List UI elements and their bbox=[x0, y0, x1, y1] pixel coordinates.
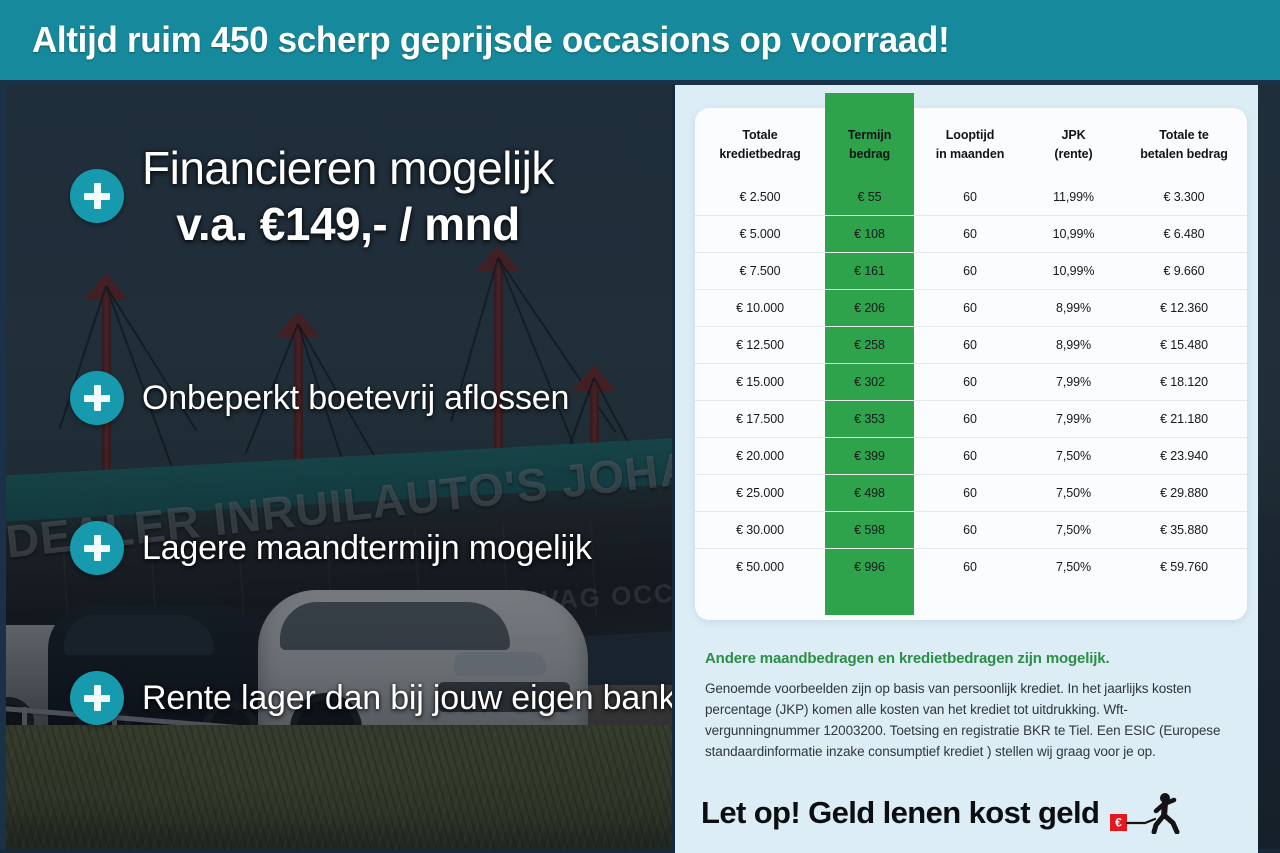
cell-jpk: 11,99% bbox=[1026, 179, 1121, 216]
table-row: € 10.000€ 206608,99%€ 12.360 bbox=[695, 289, 1247, 326]
cell-looptijd: 60 bbox=[914, 548, 1026, 585]
benefit-label-line2: v.a. €149,- / mnd bbox=[142, 201, 554, 247]
cell-totaalbedrag-text: € 21.180 bbox=[1160, 412, 1208, 426]
table-header-row: Totale kredietbedrag Termijn bedrag Loop… bbox=[695, 108, 1247, 179]
cell-termijnbedrag: € 598 bbox=[825, 511, 914, 548]
cell-kredietbedrag-text: € 50.000 bbox=[736, 560, 784, 574]
cell-termijnbedrag-text: € 161 bbox=[854, 264, 885, 278]
cell-totaalbedrag: € 9.660 bbox=[1121, 252, 1247, 289]
cell-jpk: 10,99% bbox=[1026, 252, 1121, 289]
cell-kredietbedrag: € 25.000 bbox=[695, 474, 825, 511]
cell-looptijd-text: 60 bbox=[963, 227, 977, 241]
table-row: € 30.000€ 598607,50%€ 35.880 bbox=[695, 511, 1247, 548]
cell-kredietbedrag: € 5.000 bbox=[695, 215, 825, 252]
cell-totaalbedrag: € 29.880 bbox=[1121, 474, 1247, 511]
table-row: € 5.000€ 1086010,99%€ 6.480 bbox=[695, 215, 1247, 252]
benefit-item-maandtermijn: Lagere maandtermijn mogelijk bbox=[70, 521, 592, 575]
plus-icon bbox=[70, 521, 124, 575]
cell-termijnbedrag-text: € 996 bbox=[854, 560, 885, 574]
cell-jpk: 7,50% bbox=[1026, 474, 1121, 511]
cell-looptijd-text: 60 bbox=[963, 264, 977, 278]
cell-looptijd: 60 bbox=[914, 326, 1026, 363]
disclaimer-body: Genoemde voorbeelden zijn op basis van p… bbox=[705, 679, 1225, 763]
cell-kredietbedrag-text: € 2.500 bbox=[739, 190, 780, 204]
cell-kredietbedrag: € 2.500 bbox=[695, 179, 825, 216]
cell-looptijd: 60 bbox=[914, 474, 1026, 511]
cell-kredietbedrag-text: € 25.000 bbox=[736, 486, 784, 500]
cell-kredietbedrag: € 30.000 bbox=[695, 511, 825, 548]
benefit-label: Rente lager dan bij jouw eigen bank bbox=[142, 679, 676, 718]
cell-jpk-text: 7,99% bbox=[1056, 375, 1091, 389]
benefit-item-financieren: Financieren mogelijk v.a. €149,- / mnd bbox=[70, 145, 554, 247]
cell-termijnbedrag-text: € 399 bbox=[854, 449, 885, 463]
cell-termijnbedrag: € 55 bbox=[825, 179, 914, 216]
cell-looptijd-text: 60 bbox=[963, 560, 977, 574]
cell-termijnbedrag-text: € 498 bbox=[854, 486, 885, 500]
table-row: € 2.500€ 556011,99%€ 3.300 bbox=[695, 179, 1247, 216]
cell-jpk: 8,99% bbox=[1026, 326, 1121, 363]
plus-icon bbox=[70, 169, 124, 223]
cell-looptijd: 60 bbox=[914, 179, 1026, 216]
cell-jpk-text: 10,99% bbox=[1053, 227, 1095, 241]
cell-kredietbedrag-text: € 7.500 bbox=[739, 264, 780, 278]
cell-termijnbedrag-text: € 108 bbox=[854, 227, 885, 241]
header-line2: (rente) bbox=[1028, 145, 1119, 164]
cell-looptijd: 60 bbox=[914, 252, 1026, 289]
cell-jpk: 7,50% bbox=[1026, 437, 1121, 474]
column-header-kredietbedrag: Totale kredietbedrag bbox=[695, 108, 825, 179]
cell-termijnbedrag-text: € 258 bbox=[854, 338, 885, 352]
cell-termijnbedrag: € 996 bbox=[825, 548, 914, 585]
table-row: € 25.000€ 498607,50%€ 29.880 bbox=[695, 474, 1247, 511]
cell-looptijd-text: 60 bbox=[963, 412, 977, 426]
cell-kredietbedrag: € 10.000 bbox=[695, 289, 825, 326]
cell-kredietbedrag: € 17.500 bbox=[695, 400, 825, 437]
column-header-jpk: JPK (rente) bbox=[1026, 108, 1121, 179]
header-line2: in maanden bbox=[916, 145, 1024, 164]
cell-totaalbedrag: € 12.360 bbox=[1121, 289, 1247, 326]
cell-jpk-text: 11,99% bbox=[1053, 190, 1094, 204]
cell-totaalbedrag-text: € 6.480 bbox=[1163, 227, 1204, 241]
advertisement-banner: Altijd ruim 450 scherp geprijsde occasio… bbox=[0, 0, 1280, 853]
header-line1: JPK bbox=[1028, 126, 1119, 145]
cell-jpk: 8,99% bbox=[1026, 289, 1121, 326]
header-line1: Termijn bbox=[827, 126, 912, 145]
cell-totaalbedrag: € 18.120 bbox=[1121, 363, 1247, 400]
header-line2: bedrag bbox=[827, 145, 912, 164]
cell-looptijd-text: 60 bbox=[963, 449, 977, 463]
financing-rates-table: Totale kredietbedrag Termijn bedrag Loop… bbox=[695, 108, 1247, 585]
credit-warning: Let op! Geld lenen kost geld € bbox=[701, 792, 1183, 834]
cell-looptijd: 60 bbox=[914, 400, 1026, 437]
cell-jpk-text: 8,99% bbox=[1056, 338, 1091, 352]
plus-icon bbox=[70, 371, 124, 425]
cell-looptijd: 60 bbox=[914, 289, 1026, 326]
cell-looptijd: 60 bbox=[914, 511, 1026, 548]
table-header: Totale kredietbedrag Termijn bedrag Loop… bbox=[695, 108, 1247, 179]
cell-jpk: 10,99% bbox=[1026, 215, 1121, 252]
column-header-looptijd: Looptijd in maanden bbox=[914, 108, 1026, 179]
cell-termijnbedrag: € 206 bbox=[825, 289, 914, 326]
cell-kredietbedrag: € 20.000 bbox=[695, 437, 825, 474]
header-line1: Looptijd bbox=[916, 126, 1024, 145]
cell-totaalbedrag-text: € 18.120 bbox=[1160, 375, 1208, 389]
header-line2: betalen bedrag bbox=[1123, 145, 1245, 164]
table-row: € 12.500€ 258608,99%€ 15.480 bbox=[695, 326, 1247, 363]
cell-jpk-text: 8,99% bbox=[1056, 301, 1091, 315]
disclaimer-title: Andere maandbedragen en kredietbedragen … bbox=[705, 650, 1225, 667]
header-line1: Totale te bbox=[1123, 126, 1245, 145]
credit-warning-text: Let op! Geld lenen kost geld bbox=[701, 795, 1099, 831]
cell-totaalbedrag-text: € 35.880 bbox=[1160, 523, 1208, 537]
column-header-totaal: Totale te betalen bedrag bbox=[1121, 108, 1247, 179]
cell-looptijd-text: 60 bbox=[963, 338, 977, 352]
cell-totaalbedrag: € 23.940 bbox=[1121, 437, 1247, 474]
cell-looptijd-text: 60 bbox=[963, 486, 977, 500]
cell-jpk: 7,99% bbox=[1026, 400, 1121, 437]
cell-kredietbedrag: € 12.500 bbox=[695, 326, 825, 363]
plus-icon bbox=[70, 671, 124, 725]
cell-jpk-text: 7,50% bbox=[1056, 560, 1091, 574]
cell-termijnbedrag: € 258 bbox=[825, 326, 914, 363]
cell-kredietbedrag: € 15.000 bbox=[695, 363, 825, 400]
header-line1: Totale bbox=[697, 126, 823, 145]
cell-totaalbedrag-text: € 15.480 bbox=[1160, 338, 1208, 352]
cell-jpk-text: 7,50% bbox=[1056, 486, 1091, 500]
disclaimer-note: Andere maandbedragen en kredietbedragen … bbox=[705, 650, 1225, 763]
cell-jpk: 7,50% bbox=[1026, 511, 1121, 548]
cell-kredietbedrag-text: € 20.000 bbox=[736, 449, 784, 463]
cell-kredietbedrag-text: € 10.000 bbox=[736, 301, 784, 315]
top-banner-text: Altijd ruim 450 scherp geprijsde occasio… bbox=[32, 19, 949, 61]
cell-looptijd-text: 60 bbox=[963, 375, 977, 389]
cell-looptijd: 60 bbox=[914, 215, 1026, 252]
cell-termijnbedrag: € 498 bbox=[825, 474, 914, 511]
cell-kredietbedrag-text: € 5.000 bbox=[739, 227, 780, 241]
cell-termijnbedrag: € 353 bbox=[825, 400, 914, 437]
benefit-label-line1: Financieren mogelijk bbox=[142, 145, 554, 191]
top-banner: Altijd ruim 450 scherp geprijsde occasio… bbox=[0, 0, 1280, 80]
financing-panel: Totale kredietbedrag Termijn bedrag Loop… bbox=[672, 85, 1258, 853]
cell-totaalbedrag-text: € 12.360 bbox=[1160, 301, 1208, 315]
cell-kredietbedrag-text: € 15.000 bbox=[736, 375, 784, 389]
cell-termijnbedrag-text: € 302 bbox=[854, 375, 885, 389]
cell-looptijd-text: 60 bbox=[963, 301, 977, 315]
cell-termijnbedrag: € 108 bbox=[825, 215, 914, 252]
cell-kredietbedrag: € 50.000 bbox=[695, 548, 825, 585]
cell-looptijd-text: 60 bbox=[963, 523, 977, 537]
cell-jpk: 7,50% bbox=[1026, 548, 1121, 585]
cell-totaalbedrag: € 59.760 bbox=[1121, 548, 1247, 585]
cell-termijnbedrag: € 302 bbox=[825, 363, 914, 400]
benefit-text-stack: Financieren mogelijk v.a. €149,- / mnd bbox=[142, 145, 554, 247]
cell-totaalbedrag-text: € 23.940 bbox=[1160, 449, 1208, 463]
table-body: € 2.500€ 556011,99%€ 3.300€ 5.000€ 10860… bbox=[695, 179, 1247, 585]
benefit-item-rente: Rente lager dan bij jouw eigen bank bbox=[70, 671, 676, 725]
cell-kredietbedrag-text: € 17.500 bbox=[736, 412, 784, 426]
cell-jpk-text: 7,99% bbox=[1056, 412, 1091, 426]
benefit-label: Onbeperkt boetevrij aflossen bbox=[142, 379, 569, 418]
column-header-termijnbedrag: Termijn bedrag bbox=[825, 108, 914, 179]
cell-termijnbedrag-text: € 206 bbox=[854, 301, 885, 315]
cell-totaalbedrag-text: € 59.760 bbox=[1160, 560, 1208, 574]
table-row: € 7.500€ 1616010,99%€ 9.660 bbox=[695, 252, 1247, 289]
cell-kredietbedrag-text: € 12.500 bbox=[736, 338, 784, 352]
cell-totaalbedrag: € 3.300 bbox=[1121, 179, 1247, 216]
table-row: € 20.000€ 399607,50%€ 23.940 bbox=[695, 437, 1247, 474]
cell-totaalbedrag: € 21.180 bbox=[1121, 400, 1247, 437]
cell-jpk-text: 7,50% bbox=[1056, 449, 1091, 463]
cell-looptijd: 60 bbox=[914, 363, 1026, 400]
cell-looptijd: 60 bbox=[914, 437, 1026, 474]
cell-totaalbedrag-text: € 9.660 bbox=[1163, 264, 1204, 278]
cell-jpk-text: 7,50% bbox=[1056, 523, 1091, 537]
cell-kredietbedrag-text: € 30.000 bbox=[736, 523, 784, 537]
cell-totaalbedrag: € 35.880 bbox=[1121, 511, 1247, 548]
cell-kredietbedrag: € 7.500 bbox=[695, 252, 825, 289]
cell-totaalbedrag-text: € 29.880 bbox=[1160, 486, 1208, 500]
benefits-list: Financieren mogelijk v.a. €149,- / mnd O… bbox=[0, 85, 690, 853]
cell-jpk: 7,99% bbox=[1026, 363, 1121, 400]
table-row: € 50.000€ 996607,50%€ 59.760 bbox=[695, 548, 1247, 585]
cell-termijnbedrag: € 161 bbox=[825, 252, 914, 289]
cell-totaalbedrag: € 6.480 bbox=[1121, 215, 1247, 252]
cell-termijnbedrag-text: € 353 bbox=[854, 412, 885, 426]
cell-jpk-text: 10,99% bbox=[1053, 264, 1095, 278]
cell-termijnbedrag-text: € 598 bbox=[854, 523, 885, 537]
walking-person-dragging-euro-weight-icon: € bbox=[1109, 792, 1183, 834]
table-row: € 17.500€ 353607,99%€ 21.180 bbox=[695, 400, 1247, 437]
header-line2: kredietbedrag bbox=[697, 145, 823, 164]
cell-totaalbedrag-text: € 3.300 bbox=[1163, 190, 1204, 204]
cell-termijnbedrag: € 399 bbox=[825, 437, 914, 474]
cell-totaalbedrag: € 15.480 bbox=[1121, 326, 1247, 363]
cell-termijnbedrag-text: € 55 bbox=[858, 190, 882, 204]
benefit-item-aflossen: Onbeperkt boetevrij aflossen bbox=[70, 371, 569, 425]
cell-looptijd-text: 60 bbox=[963, 190, 977, 204]
svg-text:€: € bbox=[1115, 816, 1122, 830]
table-row: € 15.000€ 302607,99%€ 18.120 bbox=[695, 363, 1247, 400]
benefit-label: Lagere maandtermijn mogelijk bbox=[142, 529, 592, 568]
